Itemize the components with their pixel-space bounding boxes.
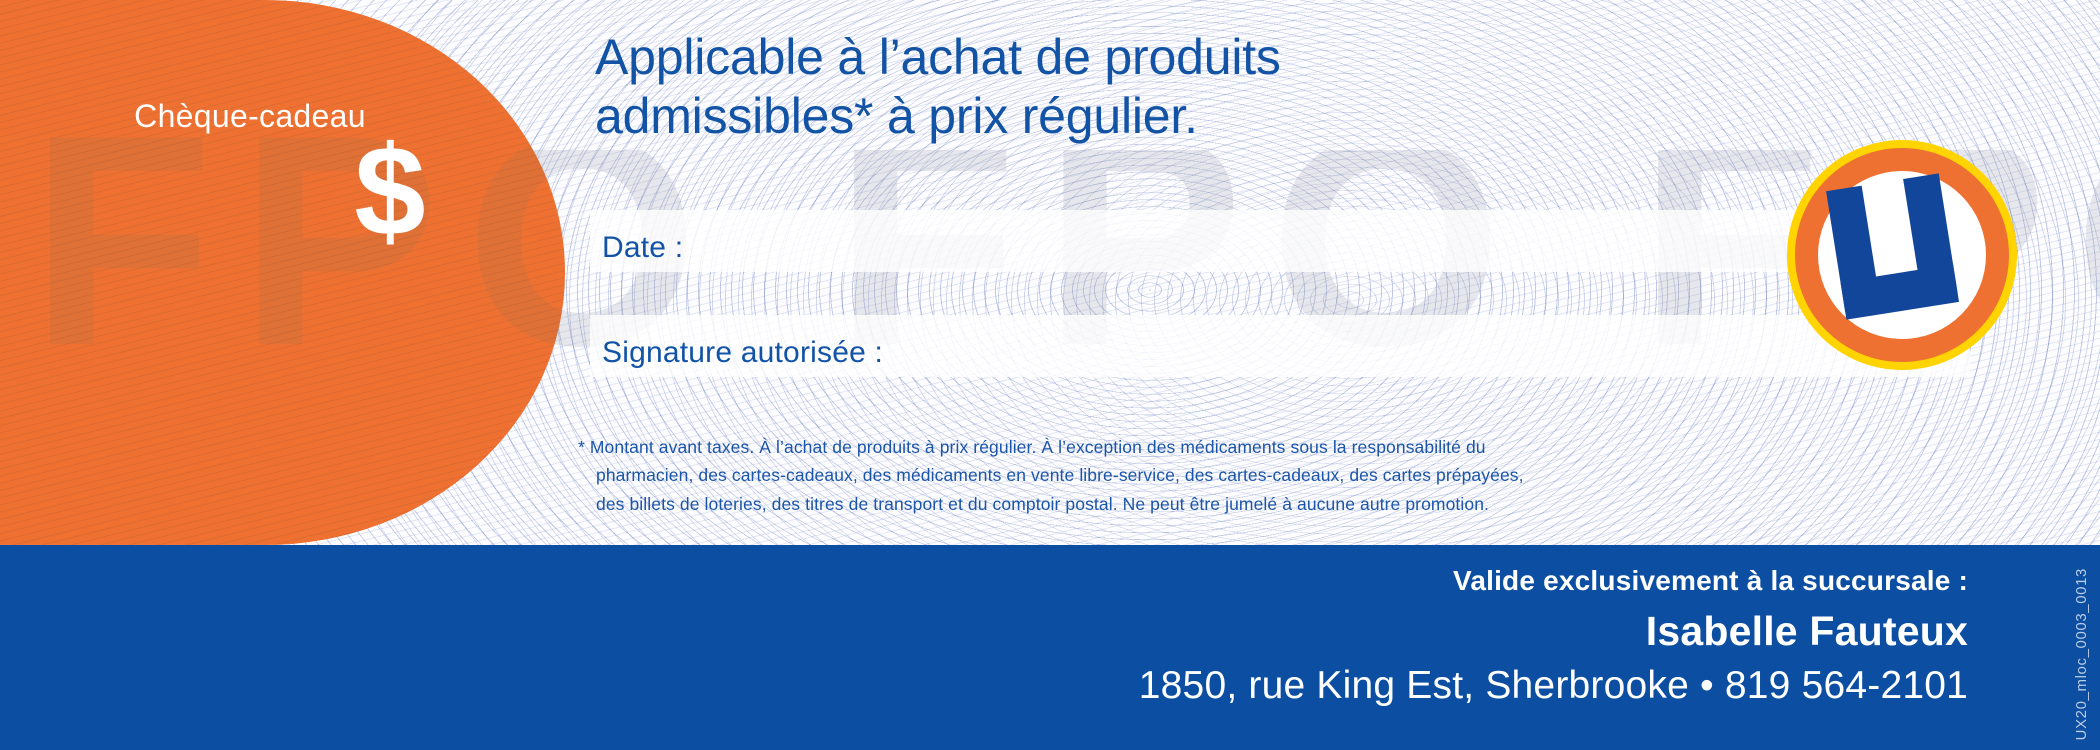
page-title: Applicable à l’achat de produits admissi… [595,28,1695,145]
fine-print-line-2: pharmacien, des cartes-cadeaux, des médi… [578,461,1738,489]
amount-panel-hatch [0,0,565,545]
store-address: 1850, rue King Est, Sherbrooke • 819 564… [1139,661,1968,712]
store-info: Valide exclusivement à la succursale : I… [1139,563,1968,712]
fine-print-line-1: * Montant avant taxes. À l’achat de prod… [578,433,1738,461]
reference-code: UX20_mloc_0003_0013 [2073,568,2090,740]
headline-line-1: Applicable à l’achat de produits [595,28,1695,87]
legal-fine-print: * Montant avant taxes. À l’achat de prod… [578,433,1738,518]
uniprix-logo-icon [1787,140,2017,370]
fine-print-line-3: des billets de loteries, des titres de t… [578,490,1738,518]
headline-line-2: admissibles* à prix régulier. [595,87,1695,146]
logo-letter-u [1826,171,1980,340]
gift-certificate: FPO FPO FPO FPO FPO FPO Chèque-cadeau $ … [0,0,2100,750]
footer-bar: Valide exclusivement à la succursale : I… [0,545,2100,750]
amount-panel: FPO FPO FPO [0,0,565,545]
date-label: Date : [602,231,683,265]
signature-label: Signature autorisée : [602,336,883,370]
date-field[interactable] [590,210,1970,272]
validity-label: Valide exclusivement à la succursale : [1139,563,1968,598]
dollar-symbol: $ [330,128,450,256]
store-name: Isabelle Fauteux [1139,604,1968,659]
